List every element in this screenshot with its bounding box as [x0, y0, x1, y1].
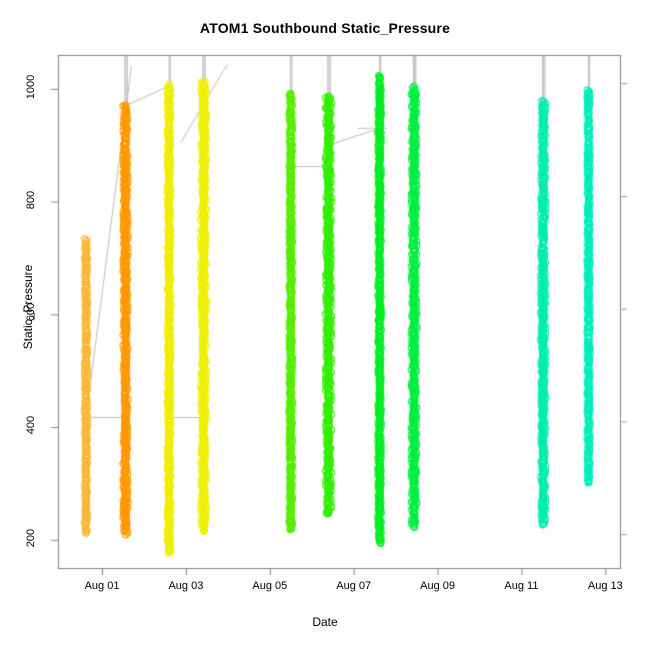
y-tick-label: 200 [25, 508, 37, 568]
page-title: ATOM1 Southbound Static_Pressure [0, 20, 650, 36]
plot-root: ATOM1 Southbound Static_Pressure Date St… [0, 0, 650, 650]
x-tick-label: Aug 11 [481, 580, 561, 592]
x-tick-label: Aug 09 [398, 580, 478, 592]
x-tick-label: Aug 13 [565, 580, 645, 592]
x-axis-label: Date [0, 615, 650, 629]
x-tick-label: Aug 07 [314, 580, 394, 592]
scatter-plot-canvas [0, 0, 650, 650]
x-tick-label: Aug 05 [230, 580, 310, 592]
y-tick-label: 800 [25, 170, 37, 230]
x-tick-label: Aug 03 [146, 580, 226, 592]
y-tick-label: 1000 [25, 57, 37, 117]
y-tick-label: 400 [25, 395, 37, 455]
x-tick-label: Aug 01 [62, 580, 142, 592]
y-tick-label: 600 [25, 282, 37, 342]
